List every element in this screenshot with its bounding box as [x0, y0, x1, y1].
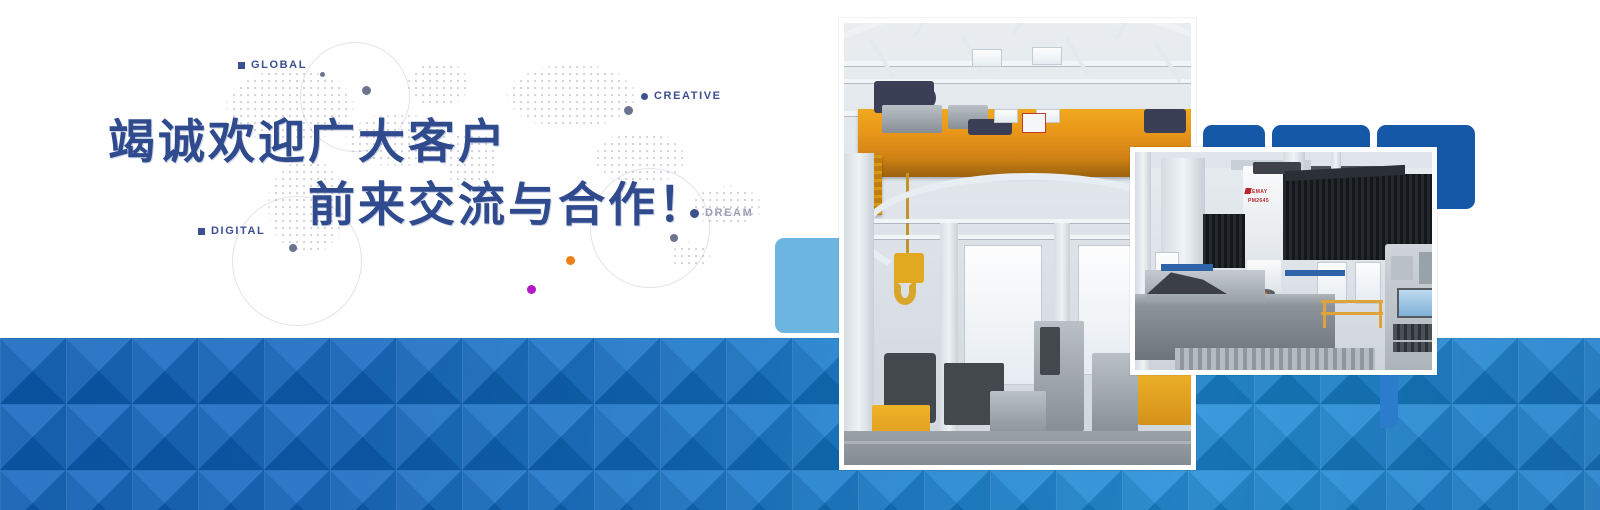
blue-stripe — [1161, 264, 1213, 271]
cnc-console-side — [1419, 252, 1432, 284]
cnc-keypad — [1393, 342, 1432, 352]
crane-lamp — [994, 109, 1018, 123]
headline: 竭诚欢迎广大客户 前来交流与合作！ — [108, 112, 808, 238]
skylight — [1032, 47, 1062, 65]
cnc-control-screen — [1397, 288, 1432, 318]
cnc-table-slats — [1175, 348, 1375, 370]
headline-line-2: 前来交流与合作！ — [108, 175, 808, 238]
map-node — [289, 244, 297, 252]
headline-line-1: 竭诚欢迎广大客户 — [108, 117, 508, 169]
cnc-gantry-column — [1243, 166, 1283, 270]
wall-column — [844, 153, 874, 465]
bullet-square-icon — [238, 62, 245, 69]
cnc-bellows-cover-left — [1203, 214, 1245, 268]
magenta-dot — [527, 285, 536, 294]
crane-cabinet — [882, 105, 942, 133]
safety-rail — [1321, 312, 1383, 315]
cnc-model-name: PM2645 — [1248, 197, 1269, 206]
decor-rect-bottom-right — [1380, 374, 1398, 428]
blue-stripe — [1285, 270, 1345, 276]
skylight — [972, 49, 1002, 67]
bullet-dot-icon — [641, 93, 648, 100]
safety-rail-post — [1379, 300, 1382, 328]
workshop-window — [1355, 262, 1381, 304]
keyword-tag-label: CREATIVE — [654, 90, 722, 102]
cnc-console-bracket — [1391, 256, 1413, 280]
safety-rail — [1321, 300, 1383, 303]
cnc-brand-label: KEMAY PM2645 — [1248, 188, 1269, 205]
floor-line — [844, 441, 1191, 444]
roof-truss — [844, 61, 1191, 66]
orange-dot — [566, 256, 575, 265]
crane-safety-sign — [1022, 113, 1046, 133]
workshop-floor — [844, 431, 1191, 465]
crane-endcarriage — [1144, 109, 1186, 133]
map-node — [320, 72, 325, 77]
keyword-tag-global: GLOBAL — [238, 59, 307, 71]
cnc-machine-photo: KEMAY PM2645 — [1130, 147, 1437, 375]
promo-banner: GLOBAL CREATIVE DIGITAL DREAM 竭诚欢迎广大客户 前… — [0, 0, 1600, 510]
cnc-keypad — [1393, 324, 1432, 340]
map-node — [362, 86, 371, 95]
floor-machine-dark — [1040, 327, 1060, 375]
safety-rail-post — [1323, 300, 1326, 328]
keyword-tag-creative: CREATIVE — [641, 90, 722, 102]
keyword-tag-label: GLOBAL — [251, 59, 307, 71]
